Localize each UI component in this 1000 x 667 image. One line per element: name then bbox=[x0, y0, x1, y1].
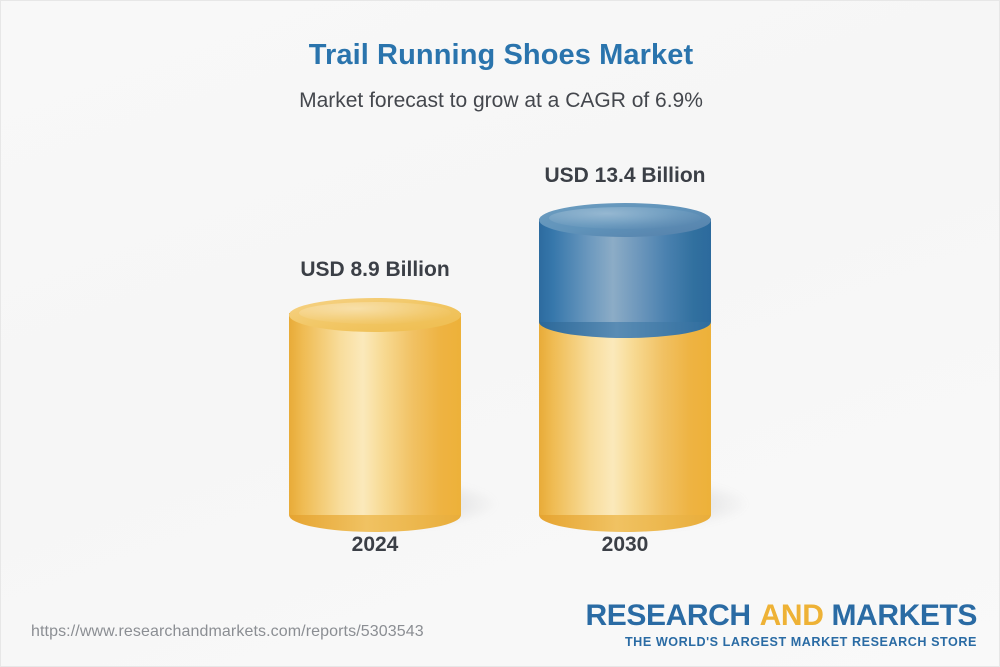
bar-value-label-2030: USD 13.4 Billion bbox=[495, 164, 755, 188]
bar-category-label-2024: 2024 bbox=[245, 533, 505, 557]
bar-category-label-2030: 2030 bbox=[495, 533, 755, 557]
report-url[interactable]: https://www.researchandmarkets.com/repor… bbox=[31, 623, 424, 641]
cylinder-top-cap-2024 bbox=[289, 298, 461, 332]
cylinder-top-highlight-2024 bbox=[299, 302, 451, 324]
bar-value-label-2024: USD 8.9 Billion bbox=[245, 258, 505, 282]
brand-word-research: RESEARCH bbox=[586, 599, 751, 632]
cylinder-body-2024 bbox=[289, 313, 461, 515]
cylinder-top-cap-2030 bbox=[539, 203, 711, 237]
brand-logo[interactable]: RESEARCHANDMARKETS THE WORLD'S LARGEST M… bbox=[586, 601, 977, 649]
infographic-canvas: Trail Running Shoes Market Market foreca… bbox=[0, 0, 1000, 667]
brand-word-and: AND bbox=[760, 599, 824, 632]
brand-word-markets: MARKETS bbox=[831, 599, 977, 632]
chart-plot-area: USD 8.9 Billion 2024 USD 13.4 Billion bbox=[1, 1, 1000, 601]
cylinder-body-lower-2030 bbox=[539, 313, 711, 515]
cylinder-top-highlight-2030 bbox=[549, 207, 701, 229]
brand-logo-wordmark: RESEARCHANDMARKETS bbox=[586, 601, 977, 631]
brand-tagline: THE WORLD'S LARGEST MARKET RESEARCH STOR… bbox=[586, 635, 977, 649]
